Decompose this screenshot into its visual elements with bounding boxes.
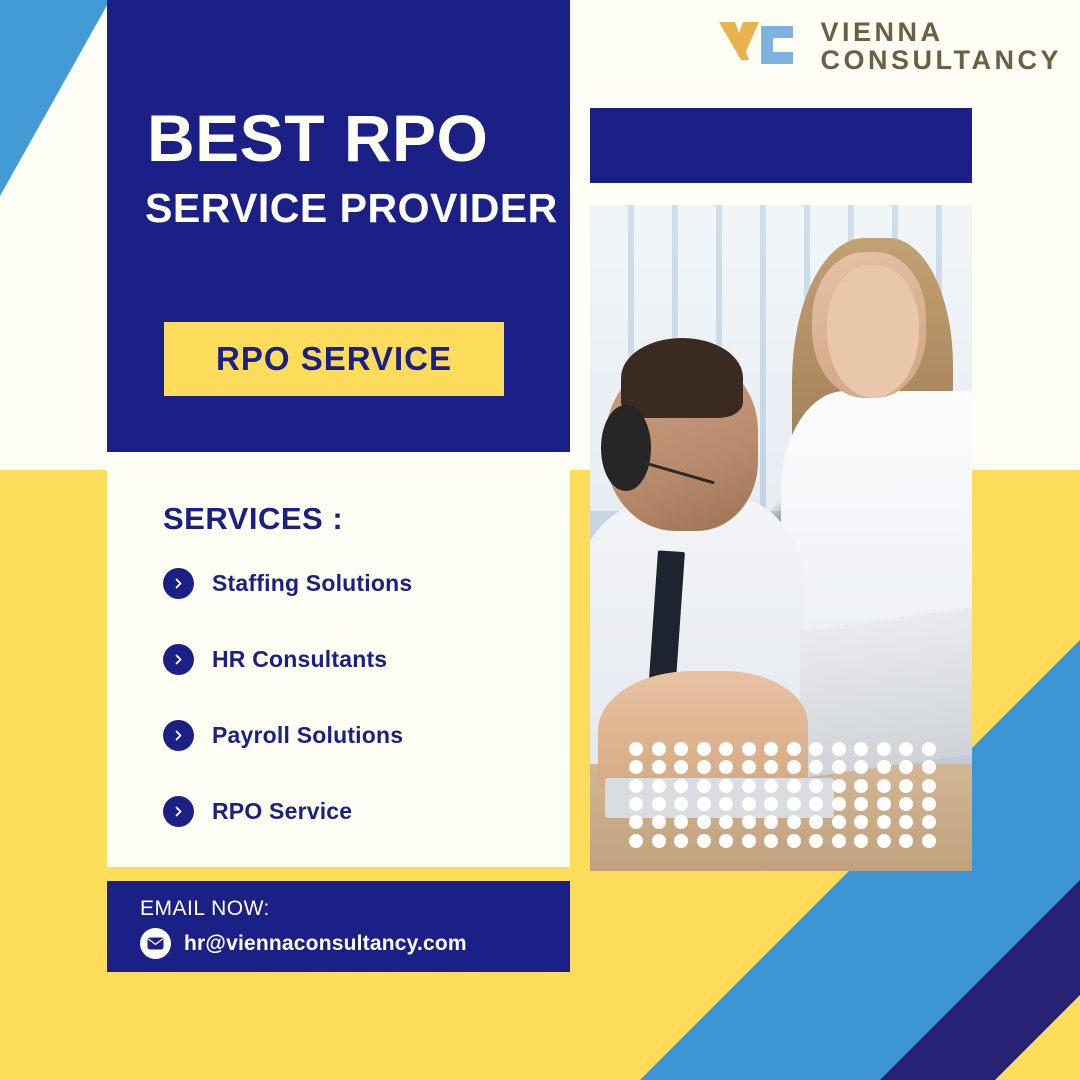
pattern-dot xyxy=(854,815,868,829)
pattern-dot xyxy=(899,760,913,774)
pattern-dot xyxy=(787,797,801,811)
brand-logo[interactable]: VIENNA CONSULTANCY xyxy=(715,18,1063,76)
pattern-dot xyxy=(742,760,756,774)
pattern-dot xyxy=(764,815,778,829)
services-heading: SERVICES : xyxy=(163,501,343,537)
pattern-dot xyxy=(742,834,756,848)
pattern-dot xyxy=(674,760,688,774)
pattern-dot xyxy=(629,797,643,811)
pattern-dot xyxy=(899,815,913,829)
pattern-dot xyxy=(719,797,733,811)
envelope-icon xyxy=(140,928,171,959)
pattern-dot xyxy=(697,797,711,811)
pattern-dot xyxy=(719,834,733,848)
pattern-dot xyxy=(787,760,801,774)
pattern-dot xyxy=(787,815,801,829)
pattern-dot xyxy=(697,779,711,793)
pattern-dot xyxy=(899,742,913,756)
pattern-dot xyxy=(742,797,756,811)
hero-subtitle: SERVICE PROVIDER xyxy=(145,188,558,229)
pattern-dot xyxy=(674,815,688,829)
pattern-dot xyxy=(787,834,801,848)
dot-pattern-overlay xyxy=(625,740,940,850)
pattern-dot xyxy=(832,815,846,829)
photo-woman-face xyxy=(827,265,919,398)
pattern-dot xyxy=(877,779,891,793)
pattern-dot xyxy=(719,779,733,793)
service-label: HR Consultants xyxy=(212,646,387,673)
pattern-dot xyxy=(832,834,846,848)
hero-title: BEST RPO xyxy=(147,105,488,171)
chevron-right-icon xyxy=(163,796,194,827)
pattern-dot xyxy=(764,742,778,756)
photo-headset-icon xyxy=(601,405,651,492)
pattern-dot xyxy=(832,760,846,774)
pattern-dot xyxy=(877,834,891,848)
rpo-service-cta-button[interactable]: RPO SERVICE xyxy=(164,322,504,396)
promotional-poster: VIENNA CONSULTANCY BEST RPO SERVICE PROV… xyxy=(0,0,1080,1080)
service-item-rpo-service[interactable]: RPO Service xyxy=(163,773,563,849)
pattern-dot xyxy=(899,797,913,811)
pattern-dot xyxy=(854,834,868,848)
pattern-dot xyxy=(764,834,778,848)
pattern-dot xyxy=(652,742,666,756)
pattern-dot xyxy=(877,797,891,811)
email-address: hr@viennaconsultancy.com xyxy=(184,932,467,956)
pattern-dot xyxy=(652,797,666,811)
pattern-dot xyxy=(809,742,823,756)
pattern-dot xyxy=(922,797,936,811)
pattern-dot xyxy=(877,760,891,774)
pattern-dot xyxy=(922,742,936,756)
pattern-dot xyxy=(719,815,733,829)
pattern-dot xyxy=(697,742,711,756)
pattern-dot xyxy=(764,779,778,793)
pattern-dot xyxy=(629,779,643,793)
pattern-dot xyxy=(674,834,688,848)
brand-name-line2: CONSULTANCY xyxy=(821,47,1063,75)
pattern-dot xyxy=(809,815,823,829)
pattern-dot xyxy=(652,815,666,829)
pattern-dot xyxy=(697,815,711,829)
brand-wordmark: VIENNA CONSULTANCY xyxy=(821,19,1063,74)
pattern-dot xyxy=(854,797,868,811)
pattern-dot xyxy=(719,742,733,756)
service-item-hr-consultants[interactable]: HR Consultants xyxy=(163,621,563,697)
email-contact-bar: EMAIL NOW: hr@viennaconsultancy.com xyxy=(107,881,570,972)
pattern-dot xyxy=(697,834,711,848)
pattern-dot xyxy=(697,760,711,774)
navy-accent-bar xyxy=(590,108,972,183)
photo-man-hair xyxy=(621,338,743,418)
pattern-dot xyxy=(787,742,801,756)
pattern-dot xyxy=(922,760,936,774)
pattern-dot xyxy=(922,779,936,793)
vc-monogram-icon xyxy=(715,18,807,76)
hero-panel: BEST RPO SERVICE PROVIDER RPO SERVICE xyxy=(107,0,570,452)
pattern-dot xyxy=(652,834,666,848)
pattern-dot xyxy=(877,742,891,756)
pattern-dot xyxy=(674,779,688,793)
pattern-dot xyxy=(629,742,643,756)
pattern-dot xyxy=(809,834,823,848)
left-yellow-band xyxy=(0,470,108,1080)
pattern-dot xyxy=(764,797,778,811)
pattern-dot xyxy=(854,742,868,756)
pattern-dot xyxy=(742,815,756,829)
service-item-payroll-solutions[interactable]: Payroll Solutions xyxy=(163,697,563,773)
service-label: Payroll Solutions xyxy=(212,722,403,749)
top-left-blue-triangle xyxy=(0,0,110,196)
services-panel: SERVICES : Staffing Solutions HR Consult… xyxy=(107,452,570,867)
pattern-dot xyxy=(629,815,643,829)
pattern-dot xyxy=(674,797,688,811)
pattern-dot xyxy=(832,742,846,756)
pattern-dot xyxy=(922,815,936,829)
pattern-dot xyxy=(832,779,846,793)
chevron-right-icon xyxy=(163,644,194,675)
pattern-dot xyxy=(629,760,643,774)
pattern-dot xyxy=(854,760,868,774)
pattern-dot xyxy=(652,779,666,793)
pattern-dot xyxy=(854,779,868,793)
pattern-dot xyxy=(764,760,778,774)
service-label: Staffing Solutions xyxy=(212,570,412,597)
brand-name-line1: VIENNA xyxy=(821,19,1063,47)
pattern-dot xyxy=(742,742,756,756)
pattern-dot xyxy=(899,834,913,848)
pattern-dot xyxy=(809,760,823,774)
pattern-dot xyxy=(809,797,823,811)
pattern-dot xyxy=(877,815,891,829)
pattern-dot xyxy=(899,779,913,793)
pattern-dot xyxy=(832,797,846,811)
pattern-dot xyxy=(719,760,733,774)
pattern-dot xyxy=(809,779,823,793)
email-address-row[interactable]: hr@viennaconsultancy.com xyxy=(140,928,467,959)
pattern-dot xyxy=(742,779,756,793)
email-now-label: EMAIL NOW: xyxy=(140,897,270,921)
pattern-dot xyxy=(674,742,688,756)
services-list: Staffing Solutions HR Consultants Payrol… xyxy=(163,545,563,849)
service-item-staffing-solutions[interactable]: Staffing Solutions xyxy=(163,545,563,621)
pattern-dot xyxy=(629,834,643,848)
chevron-right-icon xyxy=(163,720,194,751)
pattern-dot xyxy=(787,779,801,793)
pattern-dot xyxy=(922,834,936,848)
service-label: RPO Service xyxy=(212,798,352,825)
chevron-right-icon xyxy=(163,568,194,599)
pattern-dot xyxy=(652,760,666,774)
